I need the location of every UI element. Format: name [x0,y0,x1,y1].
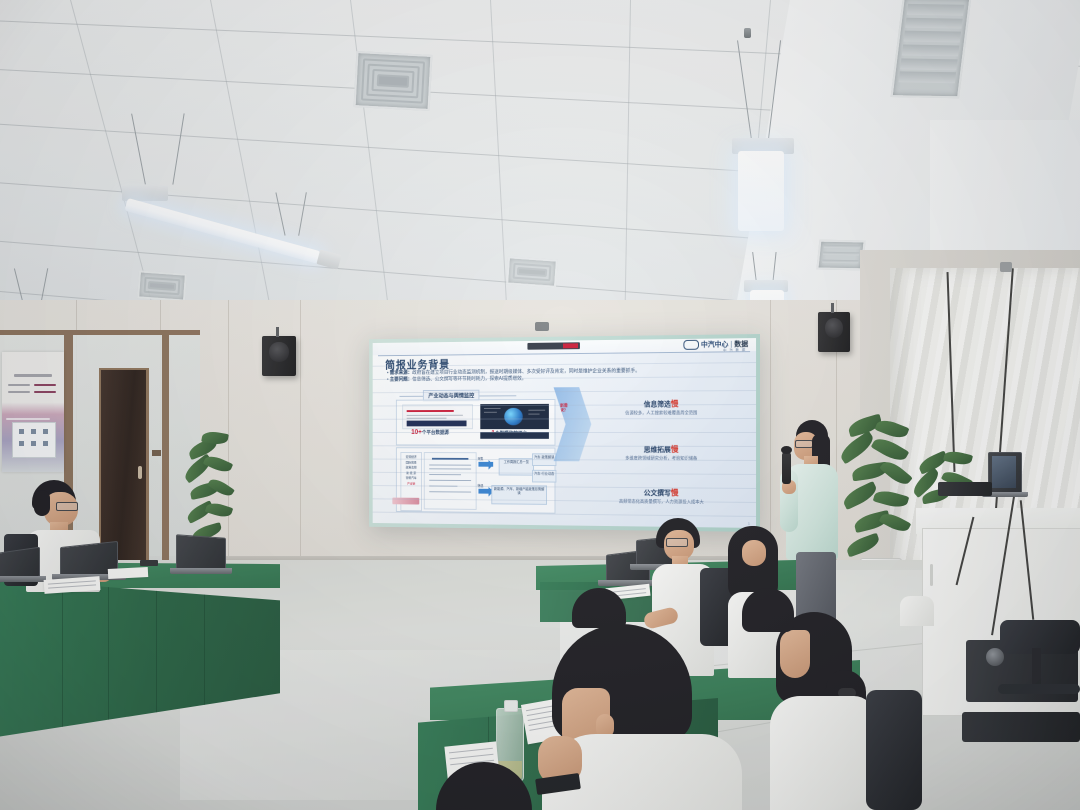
wall-speaker [262,336,296,376]
flow-arrow [478,462,493,467]
wall-poster [2,352,64,472]
meeting-room-door[interactable] [99,368,149,567]
sentiment-platform-screenshot [480,404,549,429]
door-handle[interactable] [138,466,142,479]
pain-point-title: 公文撰写 [644,490,671,497]
document-preview [424,452,477,510]
hair [742,588,794,632]
ceiling-camera [535,322,549,331]
flow-node: 新能源、汽车、新增产能政策形势解读 [491,485,547,505]
logo-mark [683,340,699,350]
bullet-label: 需求来源： [390,370,412,376]
ceiling-air-vent [891,0,972,98]
hair-side [34,490,50,516]
slide-header-badge [527,342,579,349]
wall-switch[interactable] [152,450,161,456]
poster-qr-block [12,422,56,458]
briefing-workflow-card: 宏观经济 国际贸易 政策法规 新 能 源 智能汽车 产业链 [396,447,556,513]
phone[interactable] [140,560,158,566]
flow-output: 汽车·行业动态 [532,470,556,483]
av-equipment [938,482,992,496]
shirt [900,596,934,626]
glasses [666,538,688,547]
blouse [770,696,874,810]
pain-point-mark: 慢 [671,488,679,497]
transition-chevron: 新需求？ [554,387,592,461]
platform-count-label: 个平台数据源 [422,430,449,436]
bottle-cap [504,700,517,712]
pain-point: 公文撰写慢 高频常态化高质量撰写，人力资源投入成本大 [589,487,734,506]
bullet-text: 政府旨在建立项目行业动态监测机制，报送时期级媒体、多次受好评及肯定，同时是维护企… [412,368,640,376]
slide-canvas: 中汽中心 | 数据 中 汽 数 据 简报业务背景 • 需求来源：政府旨在建立项目… [373,338,756,528]
wall-speaker [818,312,850,352]
pain-point: 信息筛选慢 信源较多，人工搜索较难覆盖周全范围 [589,398,734,416]
microphone-head [781,446,792,454]
face [742,540,766,566]
meeting-room-photo: 中汽中心 | 数据 中 汽 数 据 简报业务背景 • 需求来源：政府旨在建立项目… [0,0,1080,810]
platform-footer-strip [480,432,549,439]
pain-point-detail: 信源较多，人工搜索较难覆盖周全范围 [589,410,734,416]
partition-frame [0,330,200,335]
document [108,567,148,579]
glasses [795,440,813,448]
platform-screenshot [402,404,473,429]
face-profile [780,630,810,678]
sprinkler-head [744,28,751,38]
ceiling-air-vent [354,51,433,111]
chair [866,690,922,810]
pain-point-title: 思维拓展 [644,447,671,454]
slide-bullets: • 需求来源：政府旨在建立项目行业动态监测机制，报送时期级媒体、多次受好评及肯定… [387,367,746,384]
glasses [56,502,78,511]
ceiling-air-vent [506,256,558,287]
ceiling-air-vent [816,240,865,271]
chair-base [998,684,1080,694]
cable-anchor [1000,262,1012,272]
equipment-rack [962,712,1080,742]
partition-frame [162,332,169,568]
led-wall-display: 中汽中心 | 数据 中 汽 数 据 简报业务背景 • 需求来源：政府旨在建立项目… [369,334,760,532]
microphone[interactable] [782,452,791,484]
cabinet-handle[interactable] [930,564,933,586]
ceiling-air-vent [137,270,187,301]
